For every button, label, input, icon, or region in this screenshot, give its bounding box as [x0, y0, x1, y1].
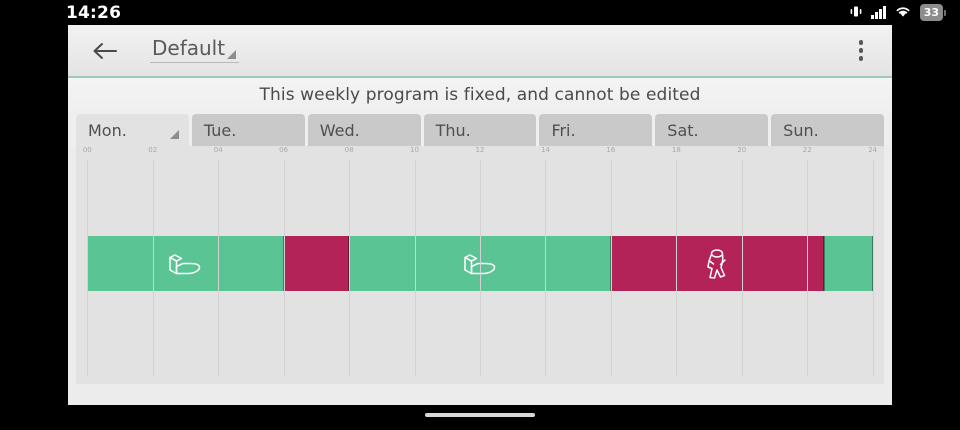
axis-tick-label: 16: [606, 146, 615, 154]
back-button[interactable]: [86, 32, 124, 70]
axis-gridline: [284, 160, 285, 376]
overflow-dot: [859, 56, 864, 61]
axis-tick-label: 24: [868, 146, 877, 154]
schedule-timeline-panel[interactable]: 00020406081012141618202224: [76, 146, 884, 384]
app-window: Default This weekly program is fixed, an…: [68, 25, 892, 405]
home-indicator[interactable]: [425, 413, 535, 417]
battery-icon: 33: [920, 4, 946, 21]
dropdown-caret-icon: [227, 50, 236, 59]
axis-gridline: [415, 160, 416, 376]
overflow-dot: [859, 48, 864, 53]
tab-label: Tue.: [204, 121, 236, 140]
axis-gridline: [349, 160, 350, 376]
axis-gridline: [87, 160, 88, 376]
tab-label: Sun.: [783, 121, 819, 140]
signal-bars-icon: [871, 6, 886, 19]
tab-fri[interactable]: Fri.: [539, 114, 652, 146]
axis-tick-label: 08: [345, 146, 354, 154]
vibrate-icon: [850, 3, 862, 22]
day-tab-bar: Mon.Tue.Wed.Thu.Fri.Sat.Sun.: [68, 112, 892, 146]
overflow-menu-icon[interactable]: [844, 31, 878, 71]
status-clock: 14:26: [66, 3, 121, 23]
axis-tick-label: 04: [214, 146, 223, 154]
back-arrow-icon: [92, 41, 118, 61]
battery-cap: [944, 10, 946, 16]
axis-tick-label: 12: [476, 146, 485, 154]
battery-level: 33: [920, 4, 943, 21]
axis-tick-label: 20: [737, 146, 746, 154]
tab-mon[interactable]: Mon.: [76, 114, 189, 146]
axis-gridline: [676, 160, 677, 376]
status-bar: 14:26 33: [0, 0, 960, 25]
schedule-segment[interactable]: [824, 236, 873, 291]
axis-gridline: [742, 160, 743, 376]
axis-gridline: [807, 160, 808, 376]
person-icon: [703, 248, 731, 280]
axis-gridline: [873, 160, 874, 376]
page-title: Default: [150, 37, 239, 63]
axis-gridline: [611, 160, 612, 376]
axis-tick-label: 18: [672, 146, 681, 154]
tab-selected-caret-icon: [170, 130, 179, 139]
tab-thu[interactable]: Thu.: [424, 114, 537, 146]
axis-gridline: [545, 160, 546, 376]
axis-gridline: [218, 160, 219, 376]
schedule-segment[interactable]: [87, 236, 283, 291]
schedule-segment[interactable]: [284, 236, 349, 291]
bed-icon: [167, 251, 203, 277]
axis-tick-label: 00: [83, 146, 92, 154]
status-icon-group: 33: [850, 3, 946, 22]
axis-tick-label: 02: [148, 146, 157, 154]
tab-sat[interactable]: Sat.: [655, 114, 768, 146]
tab-sun[interactable]: Sun.: [771, 114, 884, 146]
tab-label: Wed.: [320, 121, 360, 140]
phone-screen: 14:26 33: [0, 0, 960, 430]
axis-tick-label: 22: [803, 146, 812, 154]
tab-label: Thu.: [436, 121, 471, 140]
axis-gridline: [153, 160, 154, 376]
fixed-program-notice: This weekly program is fixed, and cannot…: [68, 78, 892, 112]
axis-gridline: [480, 160, 481, 376]
overflow-dot: [859, 40, 864, 45]
tab-wed[interactable]: Wed.: [308, 114, 421, 146]
axis-tick-label: 06: [279, 146, 288, 154]
axis-tick-label: 14: [541, 146, 550, 154]
tab-label: Sat.: [667, 121, 698, 140]
app-bar: Default: [68, 25, 892, 78]
wifi-icon: [895, 3, 911, 22]
tab-label: Fri.: [551, 121, 575, 140]
program-selector[interactable]: Default: [150, 37, 236, 65]
schedule-segment[interactable]: [611, 236, 824, 291]
axis-tick-label: 10: [410, 146, 419, 154]
tab-label: Mon.: [88, 121, 127, 140]
tab-tue[interactable]: Tue.: [192, 114, 305, 146]
